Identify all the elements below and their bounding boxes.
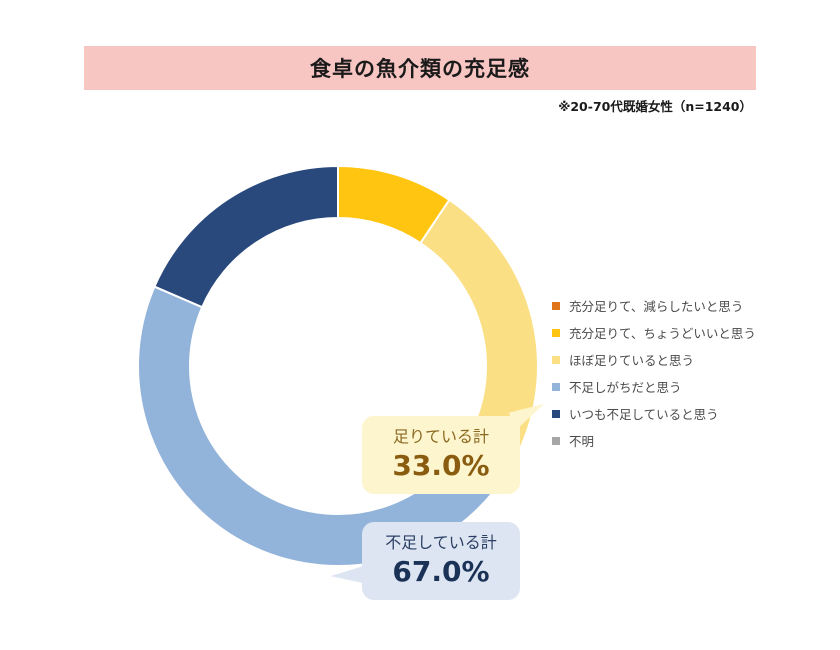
title-banner: 食卓の魚介類の充足感: [84, 46, 756, 90]
page-title: 食卓の魚介類の充足感: [310, 53, 530, 83]
legend-swatch-icon: [552, 437, 560, 445]
callout-short-value: 67.0%: [392, 556, 489, 588]
legend: 充分足りて、減らしたいと思う充分足りて、ちょうどいいと思うほぼ足りていると思う不…: [552, 292, 756, 454]
legend-item[interactable]: 不足しがちだと思う: [552, 373, 756, 400]
legend-swatch-icon: [552, 302, 560, 310]
legend-swatch-icon: [552, 383, 560, 391]
legend-item[interactable]: 充分足りて、減らしたいと思う: [552, 292, 756, 319]
legend-item-label: 不明: [569, 431, 594, 450]
donut-slice-group: [138, 166, 538, 566]
callout-enough-value: 33.0%: [392, 450, 489, 482]
legend-item-label: ほぼ足りていると思う: [569, 350, 694, 369]
legend-item[interactable]: ほぼ足りていると思う: [552, 346, 756, 373]
chart-page: 食卓の魚介類の充足感 ※20-70代既婚女性（n=1240） 足りている計 33…: [0, 0, 840, 650]
legend-item[interactable]: 不明: [552, 427, 756, 454]
legend-item-label: 充分足りて、減らしたいと思う: [569, 296, 743, 315]
legend-item-label: 不足しがちだと思う: [569, 377, 682, 396]
callout-short: 不足している計 67.0%: [362, 522, 520, 600]
donut-chart: 足りている計 33.0% 不足している計 67.0%: [110, 140, 570, 600]
callout-enough-label: 足りている計: [393, 428, 489, 446]
callout-short-label: 不足している計: [385, 534, 497, 552]
legend-swatch-icon: [552, 410, 560, 418]
legend-swatch-icon: [552, 356, 560, 364]
legend-swatch-icon: [552, 329, 560, 337]
callout-enough: 足りている計 33.0%: [362, 416, 520, 494]
legend-item[interactable]: いつも不足していると思う: [552, 400, 756, 427]
legend-item-label: 充分足りて、ちょうどいいと思う: [569, 323, 756, 342]
donut-slice[interactable]: [154, 166, 338, 307]
legend-item-label: いつも不足していると思う: [569, 404, 719, 423]
legend-item[interactable]: 充分足りて、ちょうどいいと思う: [552, 319, 756, 346]
sample-note: ※20-70代既婚女性（n=1240）: [558, 96, 752, 115]
